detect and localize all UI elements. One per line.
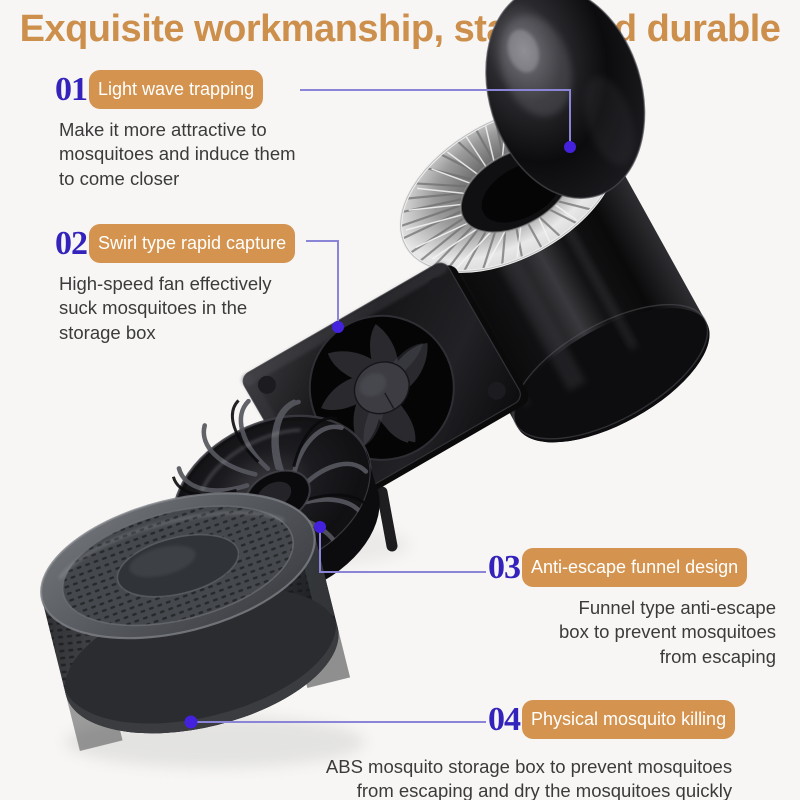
feature-number-01: 01 [55, 73, 87, 107]
feature-number-03: 03 [488, 551, 520, 585]
connector-line-03 [320, 527, 486, 572]
connector-dot-01 [564, 141, 576, 153]
feature-callout-01: 01 Light wave trapping Make it more attr… [55, 70, 296, 191]
feature-description-04: ABS mosquito storage box to prevent mosq… [252, 755, 732, 800]
feature-label-03: Anti-escape funnel design [522, 548, 747, 587]
connector-dot-03 [314, 521, 326, 533]
feature-badge-row-03: 03 Anti-escape funnel design [488, 548, 776, 587]
connector-line-02 [306, 241, 338, 327]
connector-dot-04 [185, 716, 198, 729]
feature-description-02: High-speed fan effectively suck mosquito… [59, 272, 295, 345]
connector-dot-02 [332, 321, 344, 333]
feature-description-01: Make it more attractive to mosquitoes an… [59, 118, 296, 191]
feature-description-03: Funnel type anti-escape box to prevent m… [476, 596, 776, 669]
feature-callout-04: 04 Physical mosquito killing ABS mosquit… [488, 700, 735, 739]
feature-label-04: Physical mosquito killing [522, 700, 735, 739]
infographic-canvas: Exquisite workmanship, stable and durabl… [0, 0, 800, 800]
feature-badge-row-02: 02 Swirl type rapid capture [55, 224, 295, 263]
feature-callout-02: 02 Swirl type rapid capture High-speed f… [55, 224, 295, 345]
connector-line-01 [300, 90, 570, 147]
feature-number-04: 04 [488, 703, 520, 737]
page-title: Exquisite workmanship, stable and durabl… [0, 8, 800, 51]
feature-callout-03: 03 Anti-escape funnel design Funnel type… [488, 548, 776, 669]
feature-badge-row-04: 04 Physical mosquito killing [488, 700, 735, 739]
feature-number-02: 02 [55, 227, 87, 261]
feature-label-02: Swirl type rapid capture [89, 224, 295, 263]
feature-badge-row-01: 01 Light wave trapping [55, 70, 296, 109]
feature-label-01: Light wave trapping [89, 70, 263, 109]
